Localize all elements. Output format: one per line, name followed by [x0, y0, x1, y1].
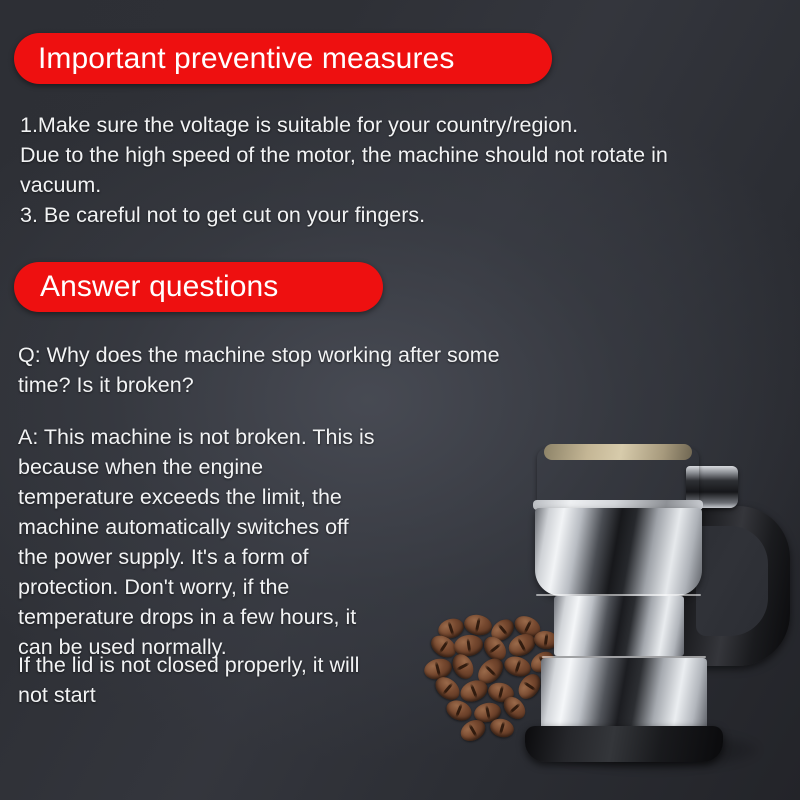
faq-lid-note-line-2: not start	[18, 680, 448, 710]
faq-lid-note: If the lid is not closed properly, it wi…	[18, 650, 448, 710]
faq-answer-line-4: machine automatically switches off	[18, 512, 438, 542]
grinder-steel-bowl	[535, 508, 702, 596]
preventive-line-4: 3. Be careful not to get cut on your fin…	[20, 200, 786, 230]
answer-questions-badge-label: Answer questions	[40, 270, 278, 304]
faq-answer-line-2: because when the engine	[18, 452, 438, 482]
faq-answer: A: This machine is not broken. This is b…	[18, 422, 438, 662]
grinder-lid-top	[544, 444, 692, 460]
faq-answer-line-3: temperature exceeds the limit, the	[18, 482, 438, 512]
grinder-handle-opening	[696, 526, 768, 636]
faq-question-line-2: time? Is it broken?	[18, 370, 618, 400]
faq-question-line-1: Q: Why does the machine stop working aft…	[18, 340, 618, 370]
preventive-measures-list: 1.Make sure the voltage is suitable for …	[20, 110, 786, 230]
preventive-line-3: vacuum.	[20, 170, 786, 200]
grinder-lower-body	[541, 658, 707, 730]
preventive-line-2: Due to the high speed of the motor, the …	[20, 140, 786, 170]
grinder-base-foot	[525, 726, 723, 762]
faq-answer-line-7: temperature drops in a few hours, it	[18, 602, 438, 632]
faq-answer-line-5: the power supply. It's a form of	[18, 542, 438, 572]
answer-questions-badge: Answer questions	[14, 262, 383, 312]
faq-answer-line-6: protection. Don't worry, if the	[18, 572, 438, 602]
preventive-measures-badge-label: Important preventive measures	[38, 42, 454, 76]
coffee-grinder-product-image	[500, 430, 800, 800]
preventive-measures-badge: Important preventive measures	[14, 33, 552, 84]
faq-question: Q: Why does the machine stop working aft…	[18, 340, 618, 400]
preventive-line-1: 1.Make sure the voltage is suitable for …	[20, 110, 786, 140]
faq-answer-line-1: A: This machine is not broken. This is	[18, 422, 438, 452]
grinder-motor-band	[554, 596, 684, 656]
product-info-panel: Important preventive measures 1.Make sur…	[0, 0, 800, 800]
faq-lid-note-line-1: If the lid is not closed properly, it wi…	[18, 650, 448, 680]
